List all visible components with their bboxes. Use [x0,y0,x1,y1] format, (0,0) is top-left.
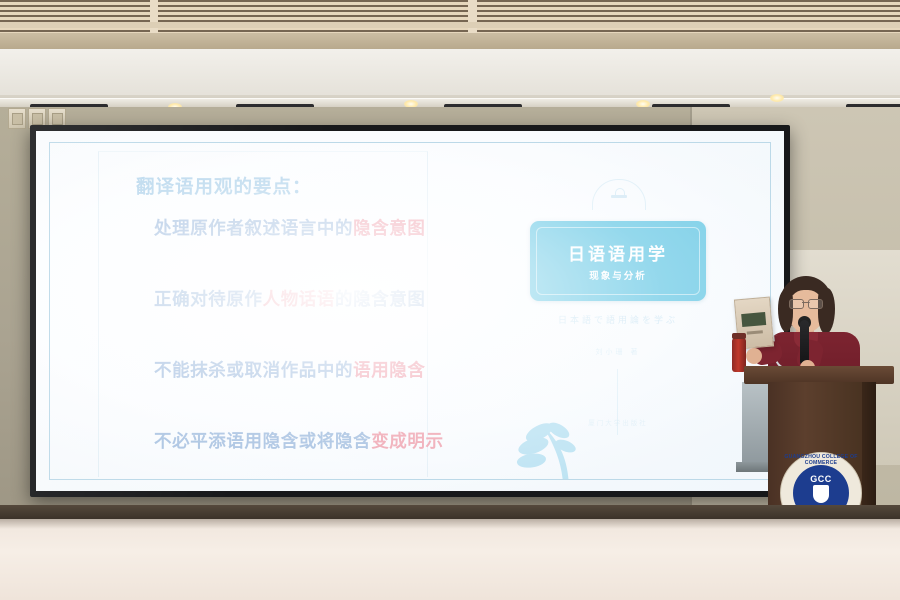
eyeglasses-icon [789,299,823,307]
hair-strand-left [778,290,793,332]
vent-gap [468,0,477,33]
hand-left [746,348,762,364]
ceiling-rail [0,33,900,49]
floor-shadow [0,519,900,529]
floor [0,519,900,600]
ceiling-vent-grille [0,0,900,33]
lecture-hall-photo: 翻译语用观的要点： 处理原作者叙述语言中的隐含意图 正确对待原作人物话语的隐含意… [0,0,900,600]
wall-baseboard [0,505,900,519]
emblem-shield-icon [813,485,829,503]
presentation-slide: 翻译语用观的要点： 处理原作者叙述语言中的隐含意图 正确对待原作人物话语的隐含意… [36,131,784,491]
emblem-monogram: GCC [793,474,849,484]
projection-screen: 翻译语用观的要点： 处理原作者叙述语言中的隐含意图 正确对待原作人物话语的隐含意… [36,131,784,491]
slide-border-frame [49,142,771,480]
vent-seam [0,22,900,28]
hair-strand-right [818,288,835,334]
vent-gap [150,0,158,33]
light-switch-plate[interactable] [8,108,26,129]
projection-screen-frame: 翻译语用观的要点： 处理原作者叙述语言中的隐含意图 正确对待原作人物话语的隐含意… [30,125,790,497]
downlight-icon [770,94,784,102]
